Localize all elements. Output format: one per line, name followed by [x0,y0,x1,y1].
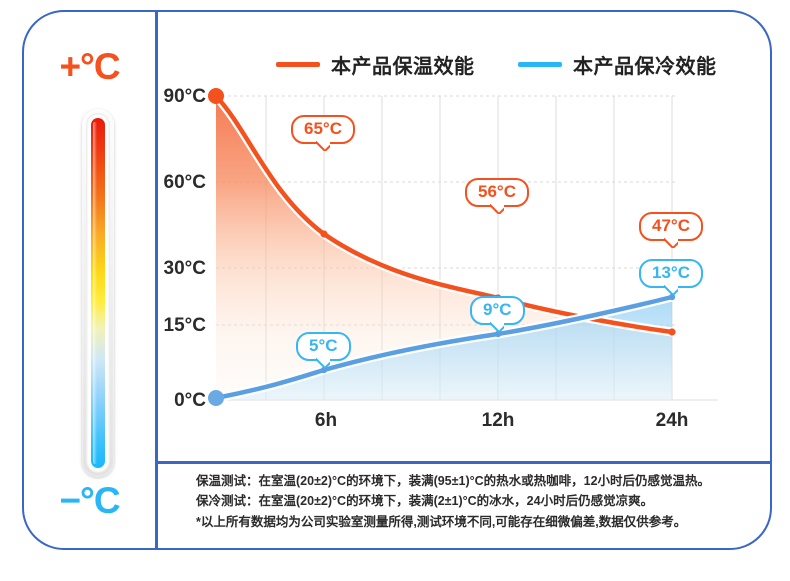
plot-area: 90°C 60°C 30°C 15°C 0°C 6h 12h 24h 65°C … [158,82,770,442]
callout-tail-icon [664,285,678,295]
callout-cool-24h-bubble: 13°C [639,259,703,288]
callout-cool-24h-text: 13°C [652,263,690,282]
footer-line-2: 保冷测试：在室温(20±2)°C的环境下，装满(2±1)°C的冰水，24小时后仍… [196,492,766,511]
y-tick-15: 15°C [150,315,206,337]
legend-swatch-cool [518,62,562,67]
x-tick-24h: 24h [650,410,694,432]
y-tick-30: 30°C [150,258,206,280]
footer-line-3: *以上所有数据均为公司实验室测量所得,测试环境不同,可能存在细微偏差,数据仅供参… [196,513,766,532]
horizontal-divider [155,461,772,464]
thermometer-panel: +°C −°C [24,12,155,548]
callout-warm-12h-text: 56°C [478,182,516,201]
footer-notes: 保温测试：在室温(20±2)°C的环境下，装满(95±1)°C的热水或热咖啡，1… [196,472,766,533]
thermometer-gradient-fill [91,118,105,468]
thermometer-icon [82,109,114,477]
minus-celsius-label: −°C [24,482,155,519]
callout-cool-6h-bubble: 5°C [296,332,351,361]
warm-start-marker [208,88,224,104]
callout-tail-icon [490,322,504,332]
callout-cool-12h-text: 9°C [483,300,512,319]
legend-item-warm: 本产品保温效能 [276,50,475,79]
legend-swatch-warm [276,62,320,67]
chart-legend: 本产品保温效能 本产品保冷效能 [158,50,770,80]
callout-tail-icon [316,141,330,151]
callout-tail-icon [664,238,678,248]
callout-warm-6h-bubble: 65°C [291,115,355,144]
chart-panel: 本产品保温效能 本产品保冷效能 [158,12,770,460]
callout-warm-24h-bubble: 47°C [639,212,703,241]
callout-cool-6h-text: 5°C [309,336,338,355]
callout-cool-12h: 9°C [470,296,525,325]
y-tick-0: 0°C [150,390,206,412]
infographic-root: +°C −°C 本产品保温效能 本产品保冷效能 [0,0,790,581]
callout-warm-6h: 65°C [291,115,355,144]
callout-tail-icon [316,358,330,368]
y-tick-90: 90°C [150,86,206,108]
legend-label-warm: 本产品保温效能 [331,50,475,79]
callout-warm-6h-text: 65°C [304,119,342,138]
callout-tail-icon [490,204,504,214]
thermometer-tube-inner [86,113,110,473]
callout-warm-12h-bubble: 56°C [465,178,529,207]
callout-cool-12h-bubble: 9°C [470,296,525,325]
legend-item-cool: 本产品保冷效能 [518,50,717,79]
x-tick-6h: 6h [304,410,348,432]
plus-celsius-label: +°C [24,48,155,85]
callout-cool-24h: 13°C [639,259,703,288]
warm-point-6h [320,230,327,237]
callout-warm-24h-text: 47°C [652,216,690,235]
callout-warm-12h: 56°C [465,178,529,207]
callout-warm-24h: 47°C [639,212,703,241]
footer-line-1: 保温测试：在室温(20±2)°C的环境下，装满(95±1)°C的热水或热咖啡，1… [196,472,766,491]
y-tick-60: 60°C [150,172,206,194]
cool-start-marker [208,390,224,406]
x-tick-12h: 12h [476,410,520,432]
callout-cool-6h: 5°C [296,332,351,361]
warm-point-24h [668,328,675,335]
legend-label-cool: 本产品保冷效能 [573,50,717,79]
